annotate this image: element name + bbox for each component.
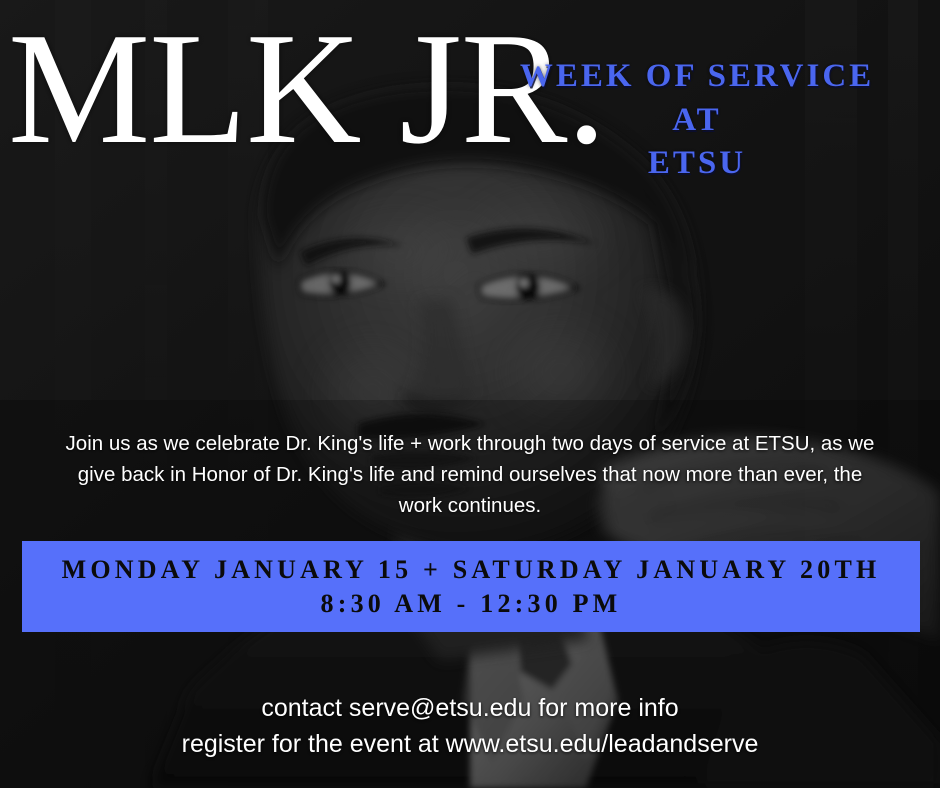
event-dates: MONDAY JANUARY 15 + SATURDAY JANUARY 20T…: [62, 555, 881, 585]
mlk-week-of-service-poster: MLK JR. WEEK OF SERVICE AT ETSU Join us …: [0, 0, 940, 788]
contact-email-line[interactable]: contact serve@etsu.edu for more info: [0, 690, 940, 726]
registration-url-line[interactable]: register for the event at www.etsu.edu/l…: [0, 726, 940, 762]
poster-header: MLK JR. WEEK OF SERVICE AT ETSU: [0, 0, 940, 215]
poster-footer: contact serve@etsu.edu for more info reg…: [0, 690, 940, 763]
event-description: Join us as we celebrate Dr. King's life …: [56, 428, 884, 521]
event-date-banner: MONDAY JANUARY 15 + SATURDAY JANUARY 20T…: [22, 541, 920, 632]
subtitle-line-at: AT: [462, 99, 932, 143]
event-subtitle-group: WEEK OF SERVICE AT ETSU: [462, 55, 932, 186]
event-times: 8:30 AM - 12:30 PM: [321, 589, 622, 619]
subtitle-line-week-of-service: WEEK OF SERVICE: [462, 55, 932, 99]
subtitle-line-etsu: ETSU: [462, 142, 932, 186]
